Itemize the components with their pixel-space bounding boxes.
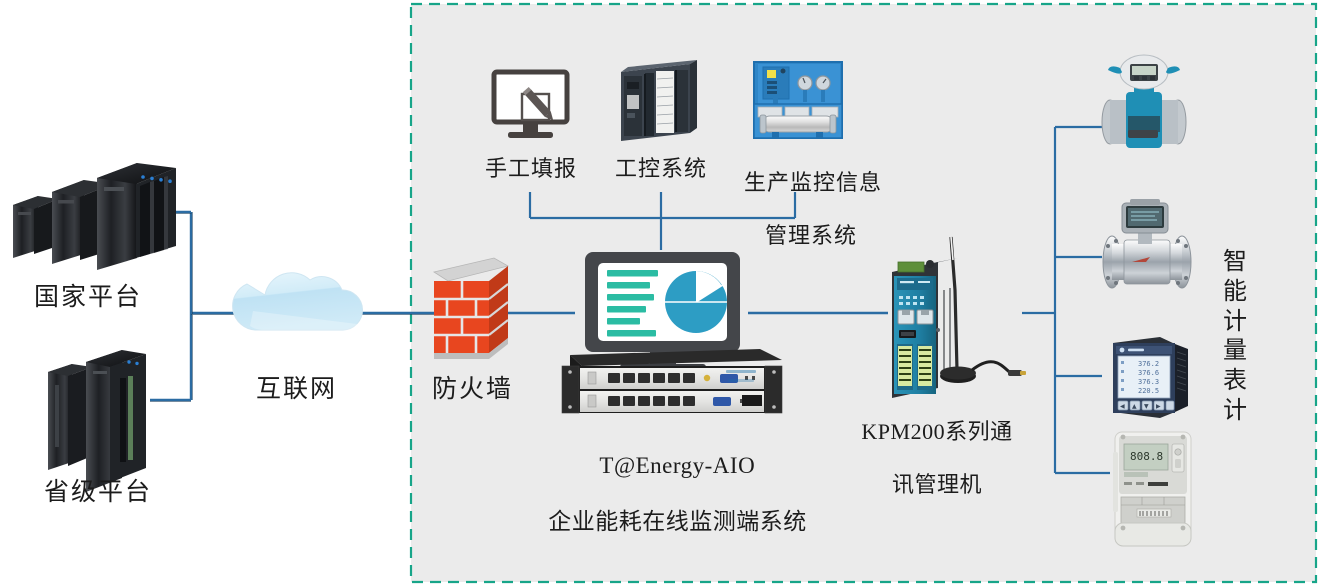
industrial-control-label: 工控系统 [601, 156, 721, 183]
svg-text:▶: ▶ [1156, 403, 1161, 410]
pie-chart [665, 271, 727, 333]
electricity-meter-icon: 808.8 [1113, 432, 1191, 546]
rack-appliance-icon [562, 349, 782, 413]
svg-text:376.6: 376.6 [1138, 369, 1159, 377]
energy-aio-label: T@Energy-AIO 企业能耗在线监测端系统 [520, 424, 810, 564]
meters-group-label: 智 能 计 量 表 计 [1215, 248, 1255, 427]
meters-group-label-c4: 表 [1223, 368, 1247, 394]
production-mis-label-line2: 管理系统 [765, 223, 857, 248]
meters-group-label-c0: 智 [1223, 249, 1247, 275]
internet-label: 互联网 [234, 375, 359, 406]
gateway-label: KPM200系列通 讯管理机 [820, 392, 1030, 526]
energy-aio-label-line2: 企业能耗在线监测端系统 [548, 509, 807, 534]
cloud-icon [233, 273, 365, 330]
svg-text:376.3: 376.3 [1138, 378, 1159, 386]
industrial-tank-icon [754, 62, 842, 138]
meters-group-label-c2: 计 [1223, 309, 1247, 335]
svg-text:◀: ◀ [1120, 403, 1125, 410]
national-platform-label: 国家平台 [8, 283, 168, 314]
manual-entry-label: 手工填报 [471, 156, 591, 183]
svg-text:808.8: 808.8 [1130, 450, 1163, 463]
meters-group-label-c1: 能 [1223, 279, 1247, 305]
provincial-platform-label: 省级平台 [18, 478, 178, 509]
svg-text:▼: ▼ [1144, 403, 1149, 410]
svg-text:376.2: 376.2 [1138, 360, 1159, 368]
firewall-label: 防火墙 [410, 375, 535, 406]
meters-group-label-c5: 计 [1223, 398, 1247, 424]
energy-aio-label-line1: T@Energy-AIO [599, 453, 755, 478]
national-platform-icon [3, 163, 176, 270]
svg-text:▲: ▲ [1132, 403, 1137, 410]
plc-rack-icon [621, 60, 697, 141]
gateway-label-line2: 讯管理机 [892, 472, 982, 497]
production-mis-label-line1: 生产监控信息 [744, 170, 882, 195]
meters-group-label-c3: 量 [1223, 338, 1247, 364]
panel-power-meter-icon: 376.2 376.6 376.3 220.5 ◀▲ ▼▶ [1113, 337, 1188, 418]
diagram-canvas: 376.2 376.6 376.3 220.5 ◀▲ ▼▶ [0, 0, 1325, 587]
svg-text:220.5: 220.5 [1138, 387, 1159, 395]
provincial-platform-icon [48, 350, 146, 492]
gateway-label-line1: KPM200系列通 [861, 419, 1012, 444]
flow-meter-blue-icon [1102, 55, 1186, 148]
production-mis-label: 生产监控信息 管理系统 [718, 143, 878, 277]
